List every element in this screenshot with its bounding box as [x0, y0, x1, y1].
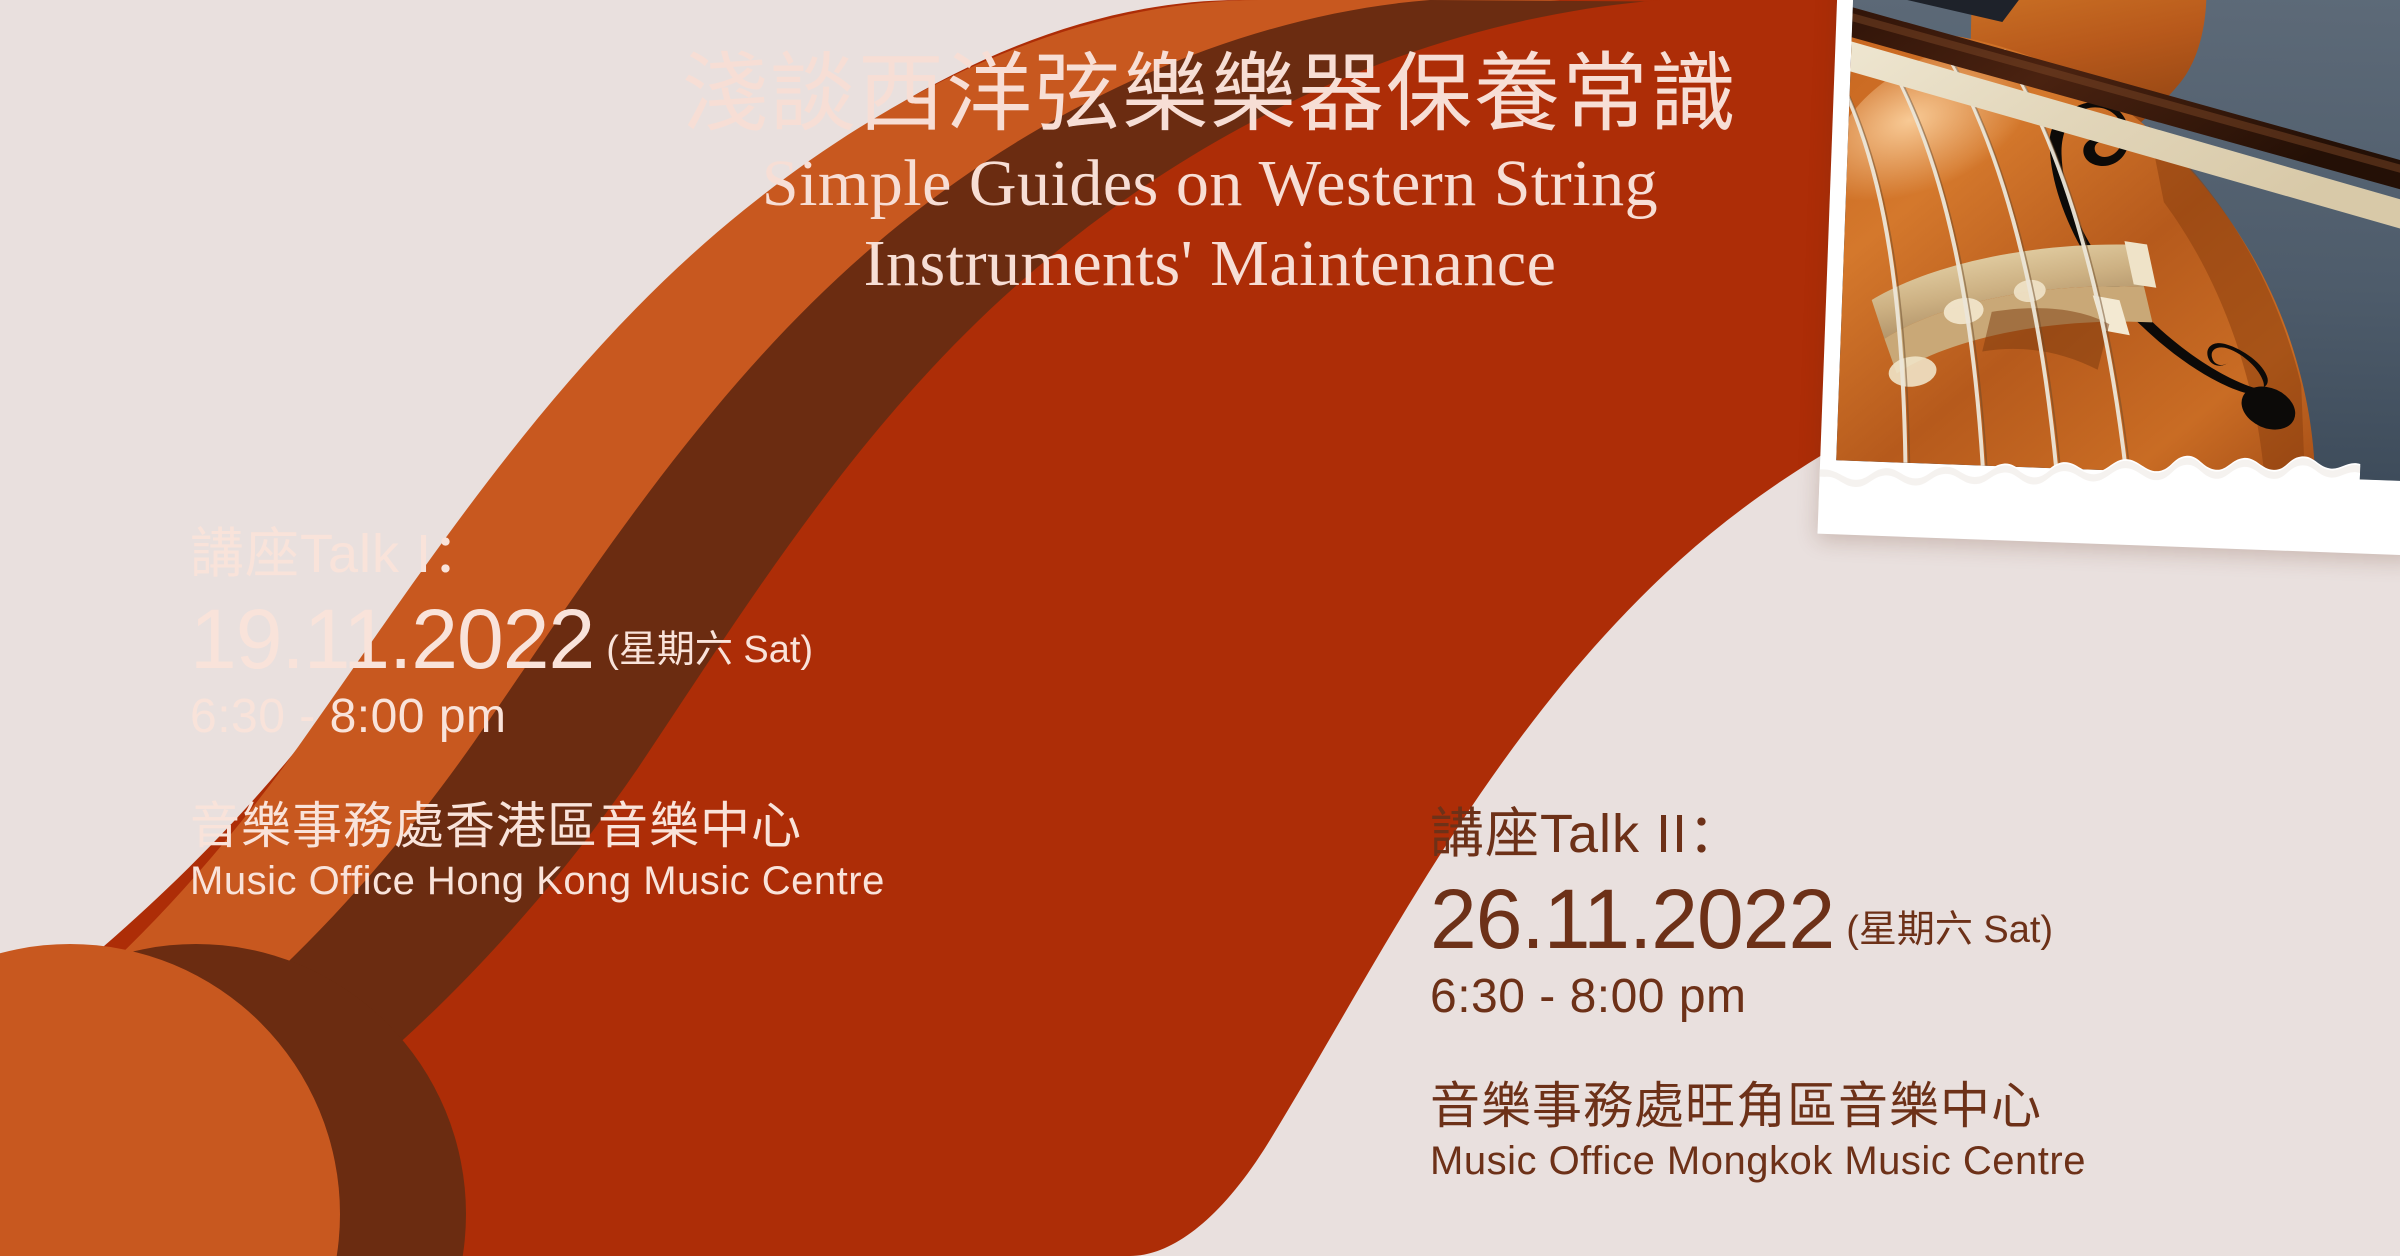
- talk-2-weekday: (星期六 Sat): [1846, 911, 2053, 963]
- title-english-line2: Instruments' Maintenance: [640, 227, 1780, 301]
- talk-2-label: 講座Talk II：: [1430, 798, 2086, 871]
- talk-1-date-row: 19.11.2022 (星期六 Sat): [190, 595, 885, 683]
- cello-illustration: [1836, 0, 2400, 481]
- talk-2-date-row: 26.11.2022 (星期六 Sat): [1430, 875, 2086, 963]
- talk-1-block: 講座Talk I： 19.11.2022 (星期六 Sat) 6:30 - 8:…: [190, 518, 885, 905]
- title-english-line1: Simple Guides on Western String: [640, 147, 1780, 221]
- cello-photo: [1836, 0, 2400, 481]
- talk-2-venue-chinese: 音樂事務處旺角區音樂中心: [1430, 1076, 2086, 1137]
- poster-title-block: 淺談西洋弦樂樂器保養常識 Simple Guides on Western St…: [640, 48, 1780, 301]
- talk-1-venue-chinese: 音樂事務處香港區音樂中心: [190, 796, 885, 857]
- talk-2-block: 講座Talk II： 26.11.2022 (星期六 Sat) 6:30 - 8…: [1430, 798, 2086, 1185]
- talk-2-venue-english: Music Office Mongkok Music Centre: [1430, 1137, 2086, 1185]
- talk-1-weekday: (星期六 Sat): [606, 631, 813, 683]
- talk-2-date: 26.11.2022: [1430, 875, 1834, 963]
- cello-photo-frame: [1817, 0, 2400, 555]
- talk-1-venue: 音樂事務處香港區音樂中心 Music Office Hong Kong Musi…: [190, 796, 885, 905]
- talk-1-venue-english: Music Office Hong Kong Music Centre: [190, 857, 885, 905]
- talk-2-time: 6:30 - 8:00 pm: [1430, 969, 2086, 1024]
- talk-1-time: 6:30 - 8:00 pm: [190, 689, 885, 744]
- poster-canvas: 淺談西洋弦樂樂器保養常識 Simple Guides on Western St…: [0, 0, 2400, 1256]
- title-chinese: 淺談西洋弦樂樂器保養常識: [640, 48, 1780, 141]
- talk-1-date: 19.11.2022: [190, 595, 594, 683]
- talk-1-label: 講座Talk I：: [190, 518, 885, 591]
- talk-2-venue: 音樂事務處旺角區音樂中心 Music Office Mongkok Music …: [1430, 1076, 2086, 1185]
